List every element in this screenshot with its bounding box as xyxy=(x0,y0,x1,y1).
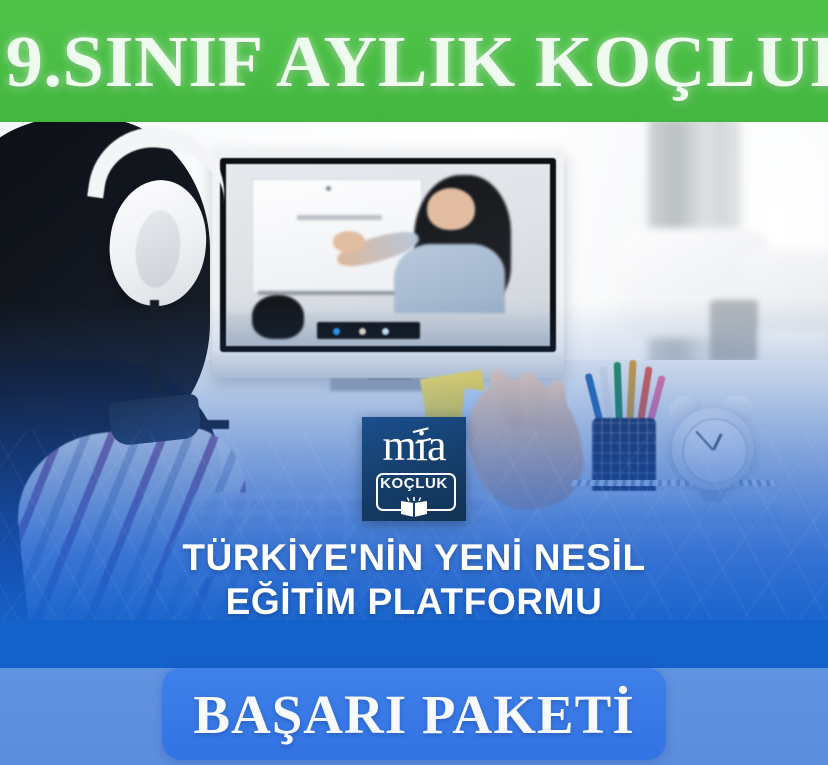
open-book-icon xyxy=(398,497,430,519)
headline-text: 9.SINIF AYLIK KOÇLUK xyxy=(0,25,828,98)
promo-banner-ad: 9.SINIF AYLIK KOÇLUK mia KOÇLUK TÜRKİYE'… xyxy=(0,0,828,765)
header-banner: 9.SINIF AYLIK KOÇLUK xyxy=(0,0,828,122)
teacher-face xyxy=(427,188,476,230)
mia-koclu-logo[interactable]: mia KOÇLUK xyxy=(362,417,466,521)
tagline-line-1: TÜRKİYE'NİN YENİ NESİL xyxy=(0,536,828,580)
cta-label: BAŞARI PAKETİ xyxy=(193,687,634,742)
basari-paketi-button[interactable]: BAŞARI PAKETİ xyxy=(162,668,666,760)
tagline: TÜRKİYE'NİN YENİ NESİL EĞİTİM PLATFORMU xyxy=(0,536,828,624)
whiteboard-writing xyxy=(297,215,381,220)
tagline-line-2: EĞİTİM PLATFORMU xyxy=(0,580,828,624)
blue-divider-band xyxy=(0,620,828,668)
logo-badge-text: KOÇLUK xyxy=(376,475,452,492)
